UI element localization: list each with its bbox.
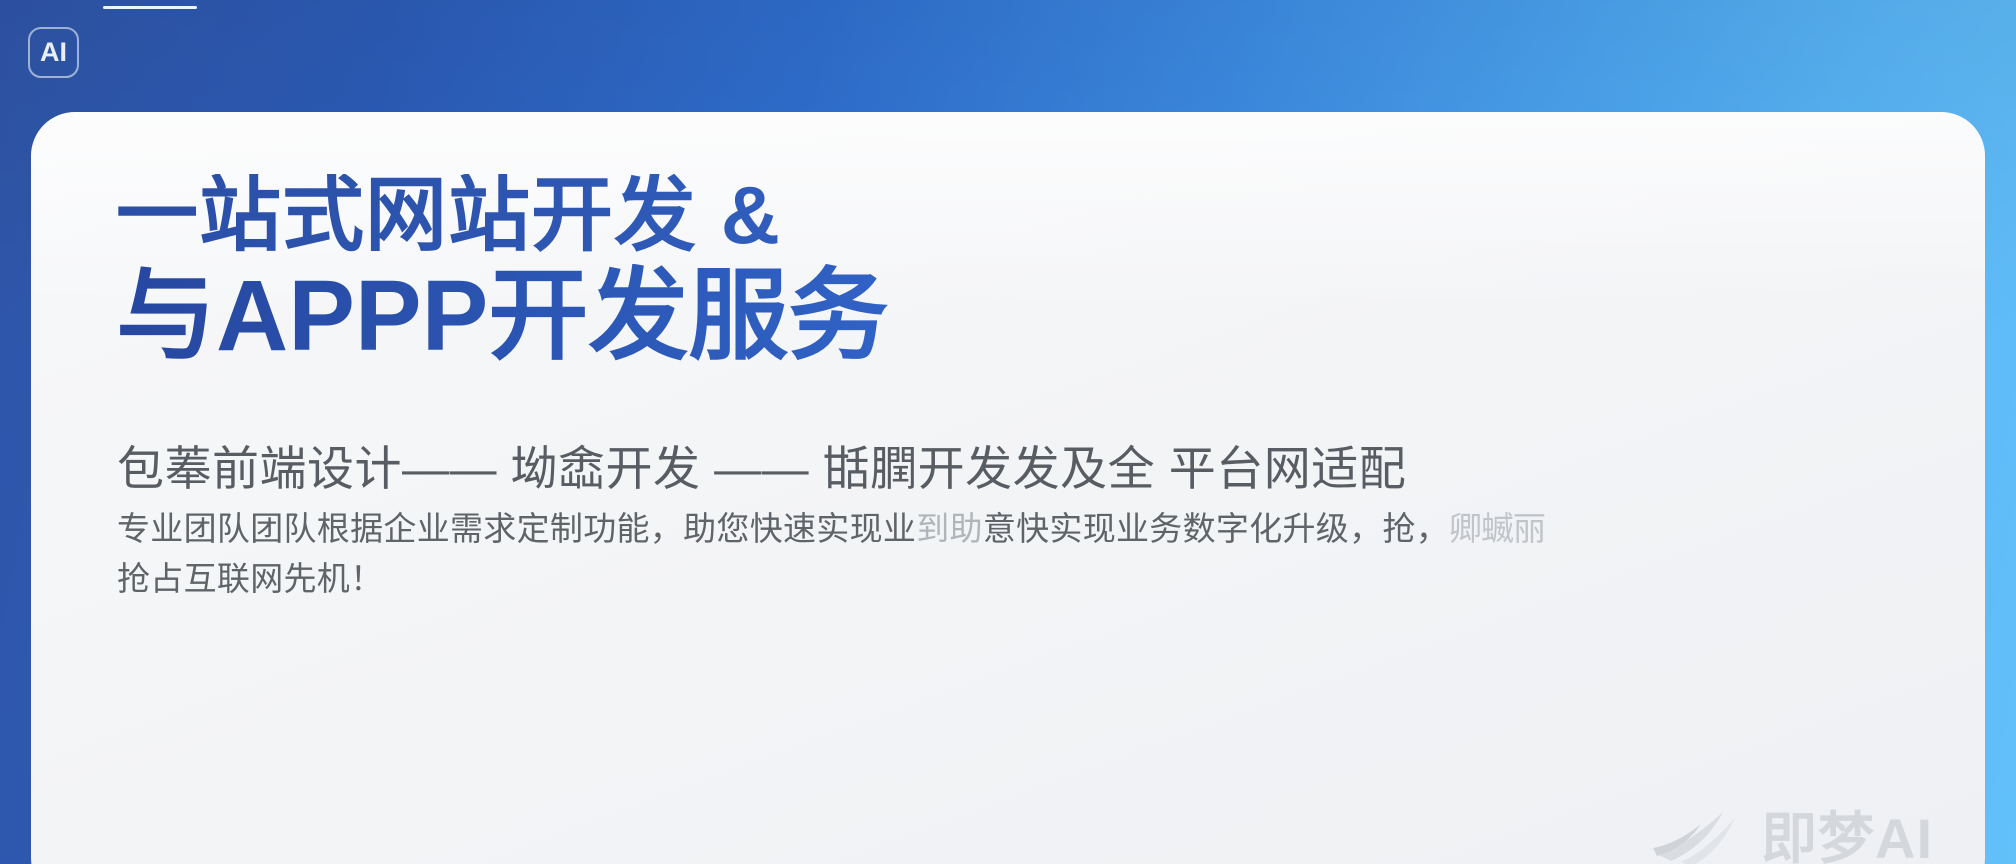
ai-badge-icon[interactable]: AI [28, 27, 79, 78]
hero-card: 一站式网站开发 & 与APPP开发服务 包菶前端设计—— 坳嵞开发 —— 甛膶开… [31, 112, 1985, 864]
ai-badge-label: AI [40, 39, 67, 66]
watermark-text: 即梦AI [1761, 811, 1933, 864]
top-white-rule [103, 6, 197, 9]
headline-block: 一站式网站开发 & 与APPP开发服务 [116, 174, 1916, 369]
body-copy-line-2: 抢占互联网先机！ [117, 560, 383, 597]
body-copy-ghost: 到助 [916, 510, 983, 547]
headline-line-1: 一站式网站开发 & [116, 174, 1916, 258]
headline-line-2: 与APPP开发服务 [116, 264, 1916, 369]
body-copy: 专业团队团队根据企业需求定制功能，助您快速实现业到助意快实现业务数字化升级，抢，… [117, 504, 1927, 604]
body-copy-main: 专业团队团队根据企业需求定制功能，助您快速实现业 [117, 510, 916, 547]
body-copy-main-2: 意快实现业务数字化升级，抢， [983, 510, 1449, 547]
bird-logo-icon [1651, 804, 1747, 864]
watermark: 即梦AI [1651, 804, 1933, 864]
feature-line: 包菶前端设计—— 坳嵞开发 —— 甛膶开发发及全 平台网适配 [117, 430, 1406, 499]
body-copy-ghost-2: 卿蝛丽 [1449, 510, 1545, 547]
